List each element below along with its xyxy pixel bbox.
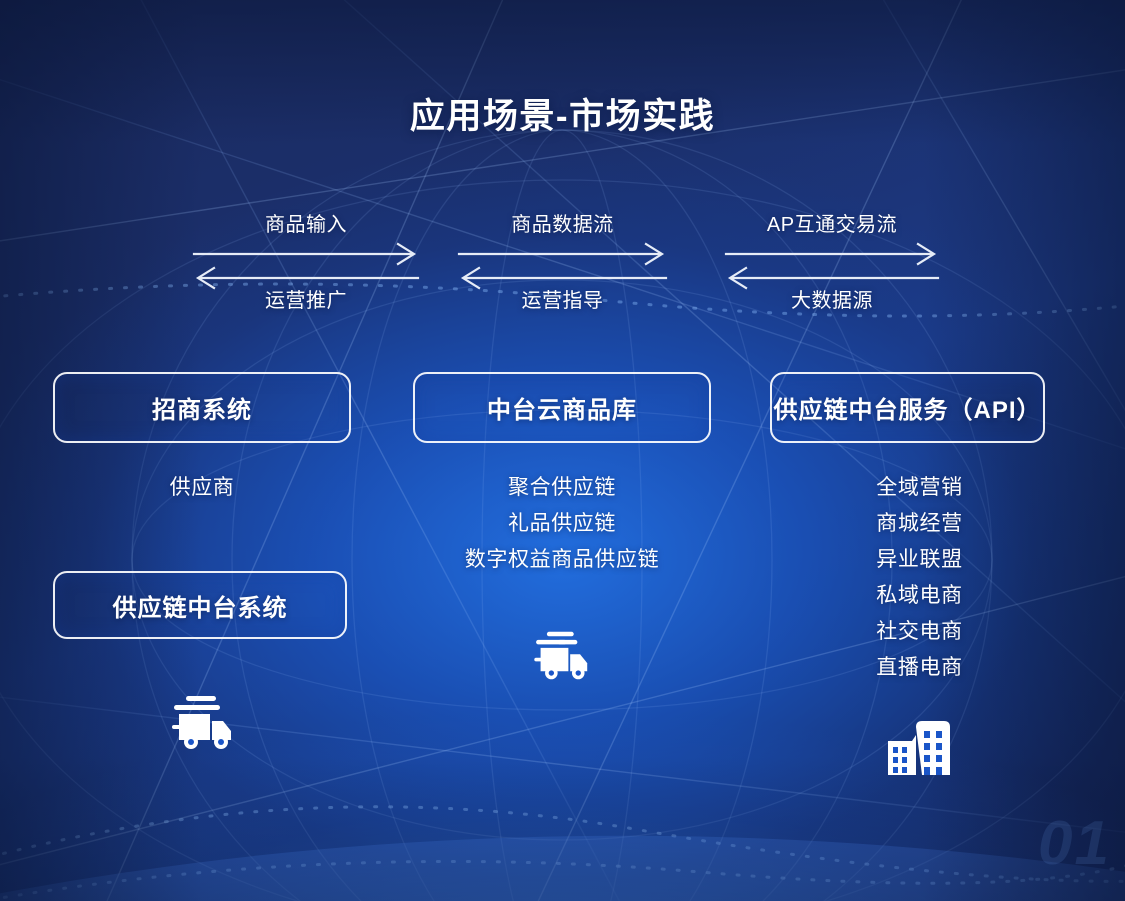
list-item: 聚合供应链 — [413, 470, 711, 506]
list-item: 礼品供应链 — [413, 506, 711, 542]
list-item: 社交电商 — [782, 614, 1057, 650]
list-item: 数字权益商品供应链 — [413, 542, 711, 578]
list-item: 直播电商 — [782, 650, 1057, 686]
list-item: 异业联盟 — [782, 542, 1057, 578]
delivery-truck-icon — [534, 630, 592, 682]
node-supply-chain-system[interactable]: 供应链中台系统 — [53, 571, 347, 639]
node-label: 中台云商品库 — [487, 390, 637, 425]
flow-bottom-label: 运营指导 — [455, 286, 670, 316]
node-cloud-product-library[interactable]: 中台云商品库 — [413, 372, 711, 443]
node-label: 供应链中台系统 — [113, 588, 288, 623]
slide-canvas: 应用场景-市场实践 商品输入 运营推广 商品数据流 — [0, 0, 1125, 901]
flow-arrows — [455, 240, 670, 286]
flow-top-label: AP互通交易流 — [722, 210, 942, 240]
node-merchant-system[interactable]: 招商系统 — [53, 372, 351, 443]
flow-arrows — [722, 240, 942, 286]
arrow-right-left-icon — [455, 240, 670, 286]
flow-group-middle: 商品数据流 运营指导 — [455, 210, 670, 316]
description-list-left: 供应商 — [53, 470, 351, 506]
flow-top-label: 商品输入 — [190, 210, 422, 240]
node-label: 招商系统 — [152, 390, 252, 425]
list-item: 全域营销 — [782, 470, 1057, 506]
city-buildings-icon — [886, 719, 956, 775]
flow-group-right: AP互通交易流 大数据源 — [722, 210, 942, 316]
flow-group-left: 商品输入 运营推广 — [190, 210, 422, 316]
description-list-middle: 聚合供应链 礼品供应链 数字权益商品供应链 — [413, 470, 711, 578]
flow-bottom-label: 运营推广 — [190, 286, 422, 316]
flow-bottom-label: 大数据源 — [722, 286, 942, 316]
slide-number-watermark: 01 — [1038, 808, 1111, 879]
arrow-right-left-icon — [722, 240, 942, 286]
node-supply-chain-api[interactable]: 供应链中台服务（API） — [770, 372, 1045, 443]
list-item: 商城经营 — [782, 506, 1057, 542]
list-item: 私域电商 — [782, 578, 1057, 614]
flow-arrows — [190, 240, 422, 286]
page-title: 应用场景-市场实践 — [0, 88, 1125, 139]
delivery-truck-icon — [172, 694, 236, 752]
node-label: 供应链中台服务（API） — [773, 390, 1041, 425]
flow-top-label: 商品数据流 — [455, 210, 670, 240]
arrow-right-left-icon — [190, 240, 422, 286]
list-item: 供应商 — [53, 470, 351, 506]
description-list-right: 全域营销 商城经营 异业联盟 私域电商 社交电商 直播电商 — [782, 470, 1057, 686]
